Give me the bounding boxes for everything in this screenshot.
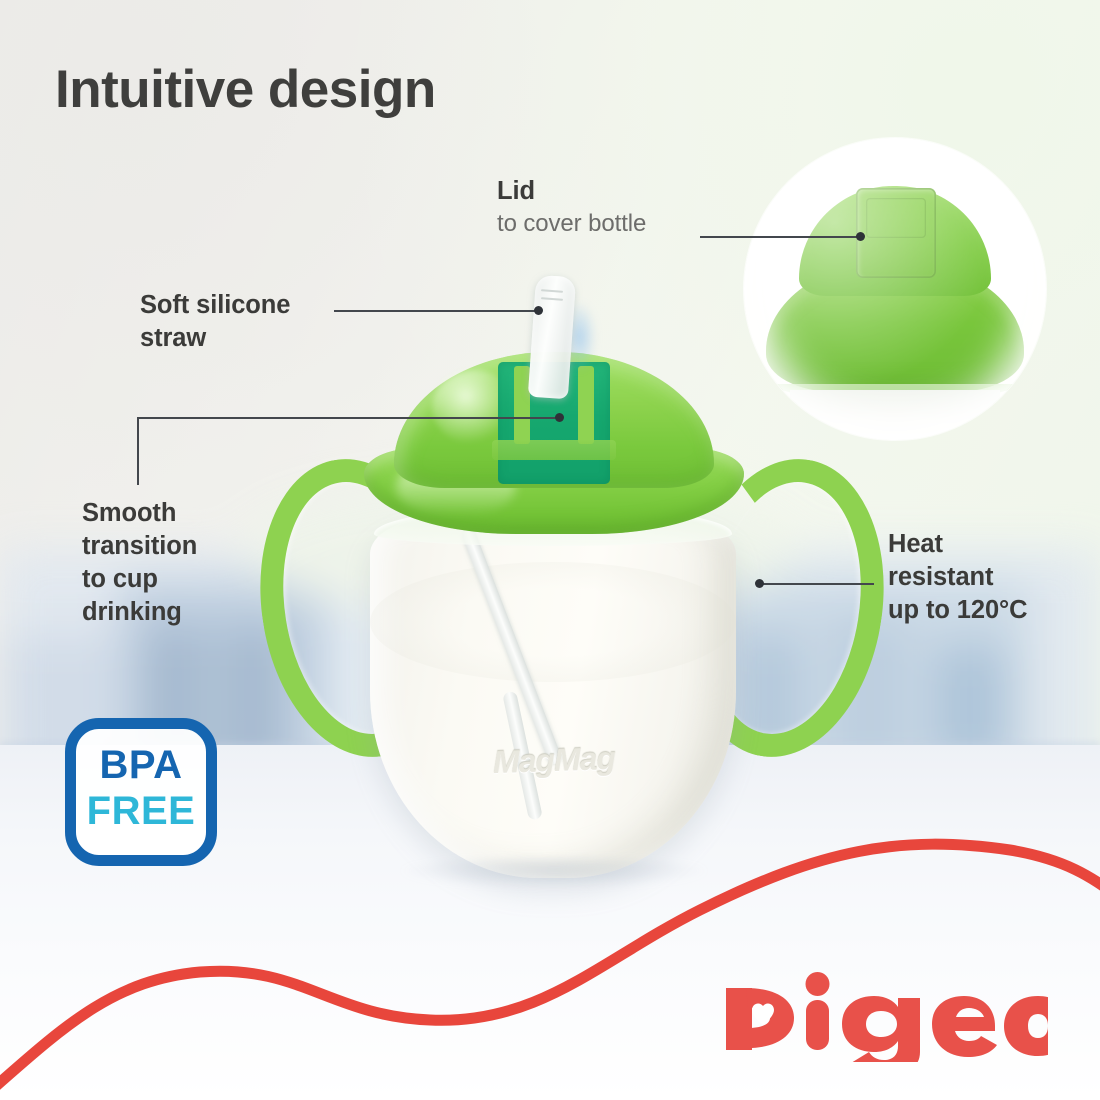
leader-dot-lid	[856, 232, 865, 241]
infographic-canvas: Intuitive design MagMag	[0, 0, 1100, 1100]
leader-line-lid	[700, 236, 860, 238]
pigeon-logo	[718, 970, 1048, 1062]
callout-heat-line-3: up to 120°C	[888, 594, 1027, 627]
leader-line-heat	[762, 583, 874, 585]
leader-dot-smooth	[555, 413, 564, 422]
lid-hinge-band	[492, 440, 616, 460]
bottle-waist-shading	[370, 562, 736, 682]
callout-heat-line-1: Heat	[888, 528, 1027, 561]
callout-straw-line-1: Soft silicone	[140, 289, 290, 322]
callout-straw-line-2: straw	[140, 322, 290, 355]
callout-lid-heading: Lid	[497, 175, 646, 208]
callout-lid: Lid to cover bottle	[497, 175, 646, 239]
page-title: Intuitive design	[55, 63, 436, 116]
leader-dot-straw	[534, 306, 543, 315]
bottle-emboss-magmag: MagMag	[433, 738, 674, 786]
callout-smooth-line-1: Smooth	[82, 497, 197, 530]
callout-smooth-line-4: drinking	[82, 596, 197, 629]
bpa-badge-line-1: BPA	[76, 745, 206, 785]
leader-line-smooth-vertical	[137, 417, 139, 485]
callout-smooth-line-2: transition	[82, 530, 197, 563]
product-sippy-cup: MagMag	[246, 262, 856, 882]
callout-lid-sub: to cover bottle	[497, 208, 646, 239]
callout-smooth-line-3: to cup	[82, 563, 197, 596]
lid-hinge-slot-right	[578, 366, 594, 444]
callout-heat-line-2: resistant	[888, 561, 1027, 594]
callout-soft-silicone-straw: Soft silicone straw	[140, 289, 290, 355]
leader-dot-heat	[755, 579, 764, 588]
callout-heat-resistant: Heat resistant up to 120°C	[888, 528, 1027, 627]
callout-smooth-transition: Smooth transition to cup drinking	[82, 497, 197, 630]
silicone-straw-spout	[528, 275, 576, 399]
leader-line-straw	[334, 310, 538, 312]
leader-line-smooth-horizontal	[137, 417, 559, 419]
lid-hinge-slot-left	[514, 366, 530, 444]
